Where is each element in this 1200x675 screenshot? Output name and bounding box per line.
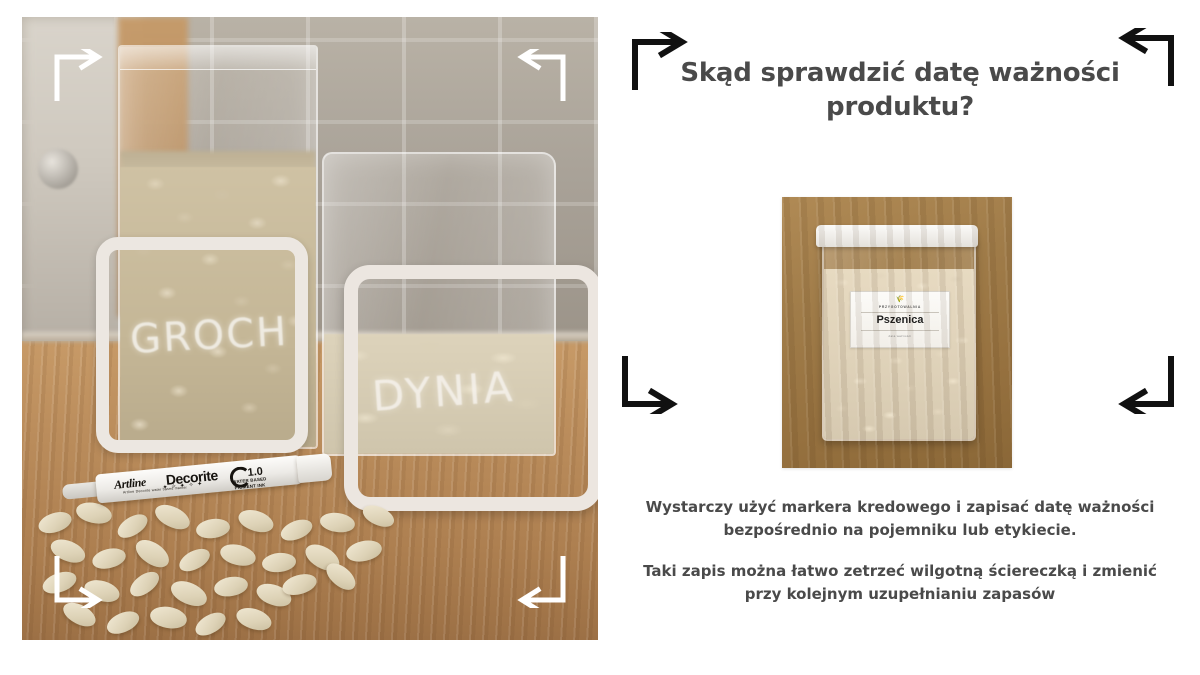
- arrow-down-right-icon: [620, 356, 678, 414]
- product-container-lid: [816, 225, 978, 247]
- label-brand-text: PRZYGOTOWALNIA: [851, 305, 949, 309]
- arrow-left-up-icon: [516, 556, 568, 608]
- left-photo: DYNIA GROCH: [22, 17, 598, 640]
- label-product-name: Pszenica: [851, 314, 949, 326]
- body-paragraph-2: Taki zapis można łatwo zetrzeć wilgotną …: [630, 560, 1170, 607]
- marker-ink-text: WATER BASED PIGMENT INK: [232, 476, 267, 490]
- page-title: Skąd sprawdzić datę ważności produktu?: [672, 56, 1128, 125]
- arrow-left-down-icon: [516, 49, 568, 101]
- slide-canvas: DYNIA GROCH: [0, 0, 1200, 675]
- puffed-wheat-fill: [824, 269, 974, 439]
- arrow-up-right-icon: [52, 49, 104, 101]
- appliance-knob: [38, 149, 78, 189]
- product-label: 🌾 PRZYGOTOWALNIA Pszenica data ważności: [850, 291, 950, 348]
- product-photo: 🌾 PRZYGOTOWALNIA Pszenica data ważności: [782, 197, 1012, 468]
- marker-cap: [296, 453, 332, 483]
- right-content-panel: Skąd sprawdzić datę ważności produktu? 🌾…: [600, 0, 1200, 675]
- product-container: 🌾 PRZYGOTOWALNIA Pszenica data ważności: [822, 237, 976, 441]
- arrow-down-right-icon: [52, 556, 104, 608]
- label-divider-bottom: [861, 330, 939, 331]
- left-photo-scene: DYNIA GROCH: [22, 17, 598, 640]
- front-container-groch-frame: [96, 237, 308, 453]
- body-paragraph-1: Wystarczy użyć markera kredowego i zapis…: [630, 496, 1170, 543]
- tall-container-lid: [120, 47, 316, 70]
- arrow-left-up-icon: [1118, 356, 1176, 414]
- label-footer-text: data ważności: [851, 334, 949, 338]
- label-divider-top: [861, 312, 939, 313]
- wheat-emblem-icon: 🌾: [851, 296, 949, 303]
